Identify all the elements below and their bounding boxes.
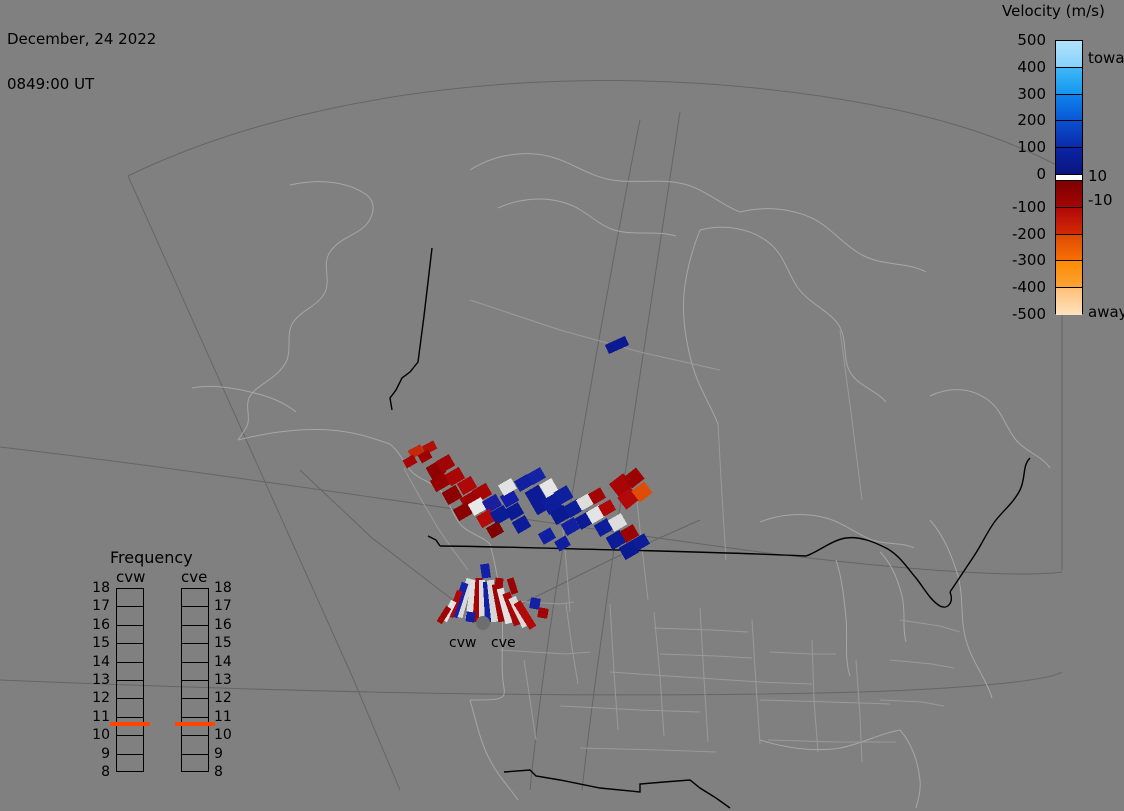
frequency-cell-cvw-18 — [117, 589, 143, 607]
colorbar-tick-0: 0 — [1036, 165, 1046, 183]
radar-map-canvas: cvw cve December, 24 2022 0849:00 UT Vel… — [0, 0, 1124, 811]
frequency-cell-cve-14 — [182, 663, 208, 681]
colorbar-tick-neg300: -300 — [1012, 251, 1046, 269]
frequency-cell-cvw-16 — [117, 626, 143, 644]
frequency-cell-cve-12 — [182, 699, 208, 717]
colorbar-tick-500: 500 — [1017, 31, 1046, 49]
frequency-tick-right-14: 14 — [214, 654, 232, 670]
frequency-marker-cvw — [110, 722, 150, 726]
frequency-tick-left-12: 12 — [90, 690, 110, 706]
frequency-tick-right-11: 11 — [214, 709, 232, 725]
frequency-cell-cve-11 — [182, 718, 208, 736]
frequency-tick-right-9: 9 — [214, 746, 223, 762]
frequency-tick-left-11: 11 — [90, 709, 110, 725]
frequency-tick-right-8: 8 — [214, 764, 223, 780]
colorbar-title: Velocity (m/s) — [1002, 2, 1105, 20]
colorbar-segment--10-to--100 — [1056, 181, 1082, 208]
frequency-cell-cve-9 — [182, 755, 208, 773]
frequency-cell-cvw-14 — [117, 663, 143, 681]
frequency-tick-right-12: 12 — [214, 690, 232, 706]
frequency-tick-right-18: 18 — [214, 580, 232, 596]
frequency-column-header-cvw: cvw — [116, 568, 145, 586]
colorbar-segment-400-to-300 — [1056, 68, 1082, 95]
colorbar-away-label: away — [1088, 303, 1124, 321]
frequency-tick-left-10: 10 — [90, 727, 110, 743]
frequency-tick-left-17: 17 — [90, 598, 110, 614]
frequency-cell-cvw-9 — [117, 755, 143, 773]
colorbar-segment--400-to--500 — [1056, 288, 1082, 315]
colorbar-tick-neg100: -100 — [1012, 198, 1046, 216]
frequency-tick-right-15: 15 — [214, 635, 232, 651]
colorbar-segment-200-to-100 — [1056, 121, 1082, 148]
velocity-colorbar: Velocity (m/s) 5004003002001000-100-200-… — [980, 2, 1124, 332]
colorbar-gradient-box — [1055, 40, 1083, 314]
frequency-cell-cve-18 — [182, 589, 208, 607]
frequency-tick-right-10: 10 — [214, 727, 232, 743]
colorbar-segment--100-to--200 — [1056, 208, 1082, 235]
colorbar-toward-label: toward — [1088, 49, 1124, 67]
colorbar-tick-300: 300 — [1017, 85, 1046, 103]
frequency-tick-left-8: 8 — [90, 764, 110, 780]
frequency-bar-cve — [181, 588, 209, 772]
colorbar-segment-300-to-200 — [1056, 95, 1082, 122]
frequency-bar-cvw — [116, 588, 144, 772]
colorbar-tick-neg500: -500 — [1012, 305, 1046, 323]
frequency-cell-cve-17 — [182, 607, 208, 625]
station-label-cve: cve — [491, 635, 516, 651]
frequency-cell-cve-13 — [182, 681, 208, 699]
frequency-cell-cve-10 — [182, 736, 208, 754]
colorbar-tick-400: 400 — [1017, 58, 1046, 76]
colorbar-negative-threshold-label: -10 — [1088, 191, 1113, 209]
frequency-cell-cvw-15 — [117, 644, 143, 662]
frequency-legend-title: Frequency — [110, 548, 193, 567]
frequency-legend: Frequency cvw cve 1818171716161515141413… — [88, 548, 238, 788]
frequency-cell-cvw-10 — [117, 736, 143, 754]
frequency-cell-cvw-12 — [117, 699, 143, 717]
frequency-tick-right-13: 13 — [214, 672, 232, 688]
frequency-tick-left-9: 9 — [90, 746, 110, 762]
colorbar-tick-neg200: -200 — [1012, 225, 1046, 243]
colorbar-segment-500-to-400 — [1056, 41, 1082, 68]
frequency-cell-cvw-13 — [117, 681, 143, 699]
radar-site-marker — [476, 616, 490, 630]
frequency-tick-right-17: 17 — [214, 598, 232, 614]
timestamp-block: December, 24 2022 0849:00 UT — [7, 2, 156, 122]
frequency-column-header-cve: cve — [181, 568, 207, 586]
colorbar-segment--200-to--300 — [1056, 235, 1082, 262]
colorbar-tick-200: 200 — [1017, 111, 1046, 129]
frequency-tick-left-16: 16 — [90, 617, 110, 633]
frequency-tick-left-14: 14 — [90, 654, 110, 670]
colorbar-segment--300-to--400 — [1056, 261, 1082, 288]
frequency-cell-cvw-11 — [117, 718, 143, 736]
frequency-tick-right-16: 16 — [214, 617, 232, 633]
timestamp-time: 0849:00 UT — [7, 77, 156, 92]
timestamp-date: December, 24 2022 — [7, 32, 156, 47]
frequency-tick-left-18: 18 — [90, 580, 110, 596]
frequency-tick-left-13: 13 — [90, 672, 110, 688]
colorbar-positive-threshold-label: 10 — [1088, 167, 1107, 185]
frequency-cell-cvw-17 — [117, 607, 143, 625]
frequency-cell-cve-16 — [182, 626, 208, 644]
frequency-tick-left-15: 15 — [90, 635, 110, 651]
colorbar-tick-100: 100 — [1017, 138, 1046, 156]
colorbar-segment-100-to-10 — [1056, 148, 1082, 175]
station-label-cvw: cvw — [449, 635, 476, 651]
frequency-cell-cve-15 — [182, 644, 208, 662]
colorbar-tick-neg400: -400 — [1012, 278, 1046, 296]
frequency-marker-cve — [175, 722, 215, 726]
